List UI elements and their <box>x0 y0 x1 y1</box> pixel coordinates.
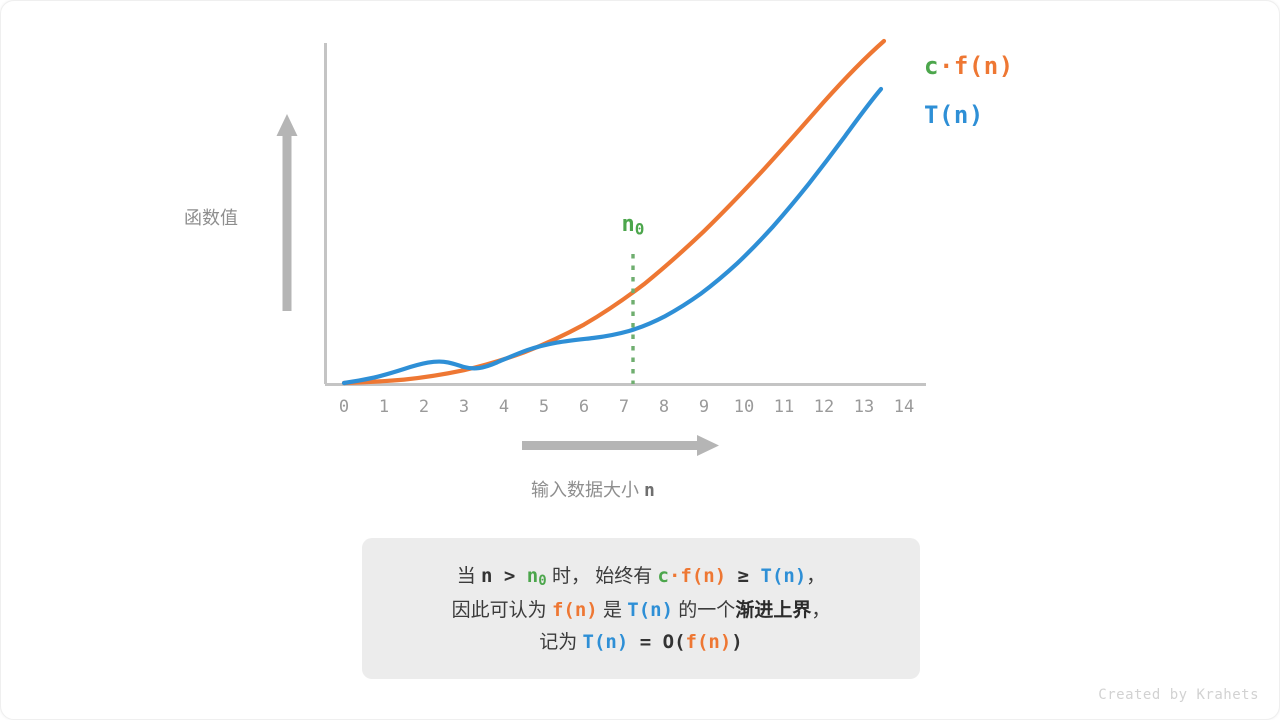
illustration-page: 函数值 输入数据大小 n 0 1 2 3 4 5 6 7 8 9 10 11 1… <box>0 0 1280 720</box>
curve-c-f-n <box>344 41 884 383</box>
y-axis-label: 函数值 <box>184 204 238 230</box>
caption-l2-end: ， <box>811 600 830 621</box>
caption-l2-fn: f(n) <box>552 599 598 621</box>
footer-credit: Created by Krahets <box>1098 687 1259 703</box>
x-direction-arrow <box>522 435 719 456</box>
caption-l2-bold: 渐进上界 <box>735 600 811 621</box>
legend-label-t-n: T(n) <box>924 101 984 129</box>
caption-l1-b: 时， 始终有 <box>547 566 658 587</box>
legend-c-constant: c <box>924 52 939 80</box>
legend-label-c-f-n: c·f(n) <box>924 52 1014 80</box>
caption-l3-o-open: O( <box>663 631 686 653</box>
caption-box: 当 n > n0 时， 始终有 c·f(n) ≥ T(n)， 因此可认为 f(n… <box>362 538 920 679</box>
caption-l2-tn: T(n) <box>627 599 673 621</box>
caption-l2-c: 的一个 <box>673 600 735 621</box>
x-tick-11: 11 <box>774 397 794 417</box>
caption-line-1: 当 n > n0 时， 始终有 c·f(n) ≥ T(n)， <box>457 564 826 591</box>
caption-l1-gt: > <box>492 565 526 587</box>
caption-line-3: 记为 T(n) = O(f(n)) <box>539 630 742 655</box>
n0-marker-label: n0 <box>622 212 645 239</box>
x-tick-12: 12 <box>814 397 834 417</box>
x-tick-0: 0 <box>339 397 349 417</box>
x-tick-9: 9 <box>699 397 709 417</box>
y-direction-arrow <box>277 114 298 311</box>
caption-l1-n: n <box>481 565 492 587</box>
x-axis-label: 输入数据大小 n <box>531 476 655 502</box>
x-axis-label-cn: 输入数据大小 <box>531 480 639 500</box>
x-tick-7: 7 <box>619 397 629 417</box>
x-tick-6: 6 <box>579 397 589 417</box>
caption-l1-a: 当 <box>457 566 481 587</box>
caption-l1-ge: ≥ <box>726 565 760 587</box>
caption-l1-n0-base: n <box>527 565 538 587</box>
n0-subscript: 0 <box>635 220 645 239</box>
caption-l3-eq: = <box>628 631 662 653</box>
x-tick-13: 13 <box>854 397 874 417</box>
caption-l1-end: ， <box>806 566 825 587</box>
x-tick-5: 5 <box>539 397 549 417</box>
caption-l1-fn: ·f(n) <box>669 565 726 587</box>
caption-l2-b: 是 <box>598 600 628 621</box>
caption-l2-a: 因此可认为 <box>452 600 552 621</box>
x-tick-4: 4 <box>499 397 509 417</box>
caption-l1-tn: T(n) <box>761 565 807 587</box>
x-tick-10: 10 <box>734 397 754 417</box>
legend-f-n: ·f(n) <box>939 52 1014 80</box>
caption-l3-fn: f(n) <box>686 631 732 653</box>
x-axis-label-var: n <box>644 480 655 501</box>
caption-l3-a: 记为 <box>539 632 582 653</box>
x-tick-1: 1 <box>379 397 389 417</box>
caption-l1-c: c <box>658 565 669 587</box>
caption-line-2: 因此可认为 f(n) 是 T(n) 的一个渐进上界， <box>452 598 831 623</box>
x-tick-3: 3 <box>459 397 469 417</box>
curve-t-n <box>344 89 881 383</box>
caption-l3-tn: T(n) <box>583 631 629 653</box>
x-tick-2: 2 <box>419 397 429 417</box>
caption-l1-n0-sub: 0 <box>538 573 546 589</box>
x-tick-8: 8 <box>659 397 669 417</box>
n0-base: n <box>622 212 635 237</box>
x-tick-14: 14 <box>894 397 914 417</box>
caption-l3-o-close: ) <box>731 631 742 653</box>
